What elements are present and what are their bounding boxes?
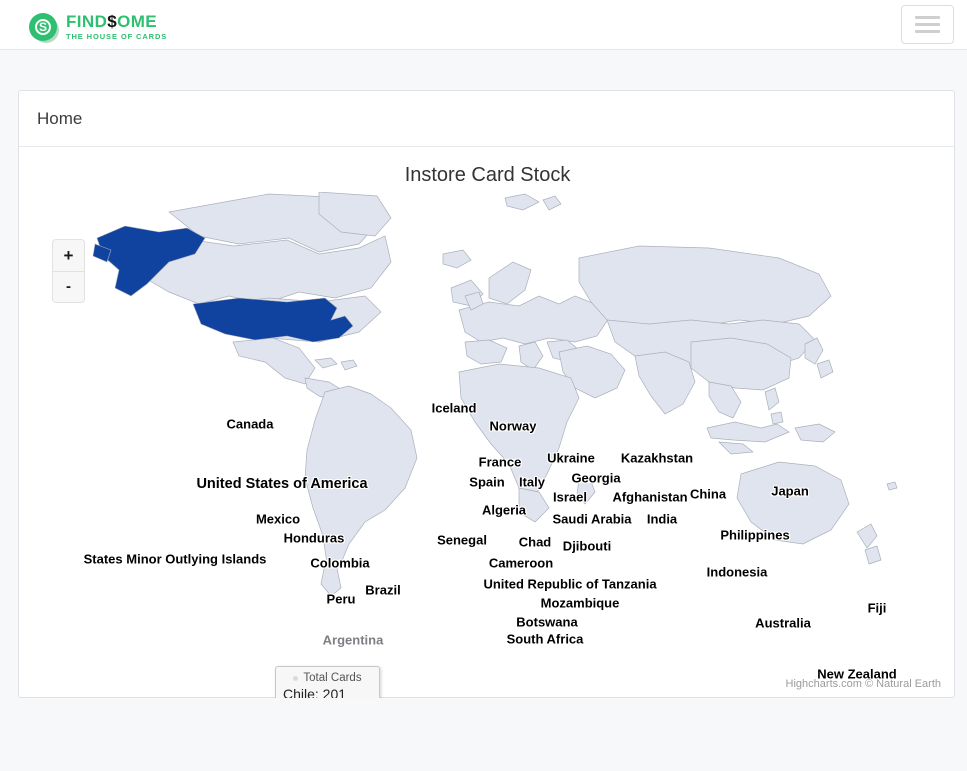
map-tooltip: Total Cards Chile: 201 [275,666,380,698]
map-zoom-controls: + - [52,239,85,303]
brand-subtitle: THE HOUSE OF CARDS [66,33,167,41]
tooltip-point-value: Chile: 201 [283,686,372,698]
content-panel: Home Instore Card Stock + - [18,90,955,698]
top-navbar: S FIND$OME THE HOUSE OF CARDS [0,0,967,50]
map-zoom-out-button[interactable]: - [52,271,85,303]
panel-header: Home [19,91,954,147]
chart-title: Instore Card Stock [19,164,954,187]
map-land-default[interactable] [137,192,897,596]
map-zoom-in-button[interactable]: + [52,239,85,271]
brand-logo-link[interactable]: S FIND$OME THE HOUSE OF CARDS [29,13,167,41]
hamburger-bar-icon [915,30,940,33]
chart-container: Instore Card Stock + - [19,147,954,698]
brand-title-post: OME [117,12,157,31]
tooltip-header: Total Cards [283,672,372,684]
hamburger-bar-icon [915,23,940,26]
brand-title-dollar: $ [107,12,117,31]
tooltip-series-name: Total Cards [303,672,361,684]
brand-mark-letter: S [39,21,47,33]
brand-title: FIND$OME [66,13,167,30]
brand-title-pre: FIND [66,12,107,31]
hamburger-menu-button[interactable] [901,5,954,44]
chart-credits[interactable]: Highcharts.com © Natural Earth [786,678,941,690]
series-color-dot-icon [293,676,298,681]
breadcrumb[interactable]: Home [37,109,82,129]
dollar-coin-icon: S [29,13,57,41]
hamburger-bar-icon [915,16,940,19]
world-map[interactable] [19,192,954,647]
world-map-svg[interactable] [19,192,954,647]
brand-text: FIND$OME THE HOUSE OF CARDS [66,13,167,41]
